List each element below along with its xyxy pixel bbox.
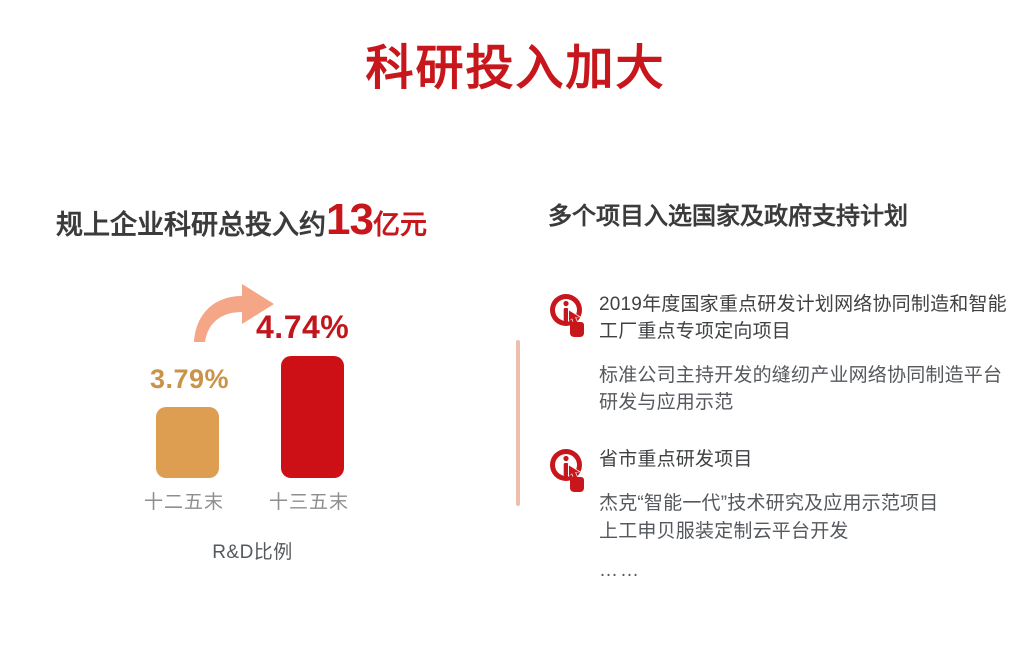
info-click-icon (546, 447, 590, 493)
left-heading: 规上企业科研总投入约13亿元 (56, 198, 427, 242)
right-column: 多个项目入选国家及政府支持计划 2019年度国家重点研发计划网络协同制造和智能工… (546, 0, 1016, 650)
bar-value-label-0: 3.79% (150, 366, 229, 393)
bar-category-label-1: 十三五末 (269, 493, 349, 512)
bullet-body: 2019年度国家重点研发计划网络协同制造和智能工厂重点专项定向项目 标准公司主持… (599, 292, 1016, 417)
chart-caption: R&D比例 (130, 543, 375, 562)
rd-ratio-bar-chart: 3.79% 4.74% 十二五末 十三五末 R&D比例 (130, 280, 410, 570)
left-heading-lead: 规上企业科研总投入约 (56, 210, 326, 240)
bullet-title: 省市重点研发项目 (599, 447, 1016, 474)
left-heading-number: 13 (326, 195, 373, 244)
bullet-title: 2019年度国家重点研发计划网络协同制造和智能工厂重点专项定向项目 (599, 292, 1016, 346)
bullet-subline: 上工申贝服装定制云平台开发 (599, 518, 1016, 546)
bullet-subline: 杰克“智能一代”技术研究及应用示范项目 (599, 490, 1016, 518)
bullet-subline: 标准公司主持开发的缝纫产业网络协同制造平台研发与应用示范 (599, 362, 1016, 417)
slide-canvas: 科研投入加大 规上企业科研总投入约13亿元 3.79% 4.74% 十二五末 十… (0, 0, 1031, 650)
info-click-icon (546, 292, 590, 338)
left-column: 规上企业科研总投入约13亿元 3.79% 4.74% 十二五末 十三五末 R&D… (0, 0, 500, 650)
bullet-subtext: 杰克“智能一代”技术研究及应用示范项目 上工申贝服装定制云平台开发 …… (599, 490, 1016, 585)
bullet-subline-ellipsis: …… (599, 557, 1016, 585)
left-heading-unit: 亿元 (373, 210, 427, 240)
bar-category-label-0: 十二五末 (144, 493, 224, 512)
bullet-body: 省市重点研发项目 杰克“智能一代”技术研究及应用示范项目 上工申贝服装定制云平台… (599, 447, 1016, 585)
bullet-subtext: 标准公司主持开发的缝纫产业网络协同制造平台研发与应用示范 (599, 362, 1016, 417)
bullet-item: 2019年度国家重点研发计划网络协同制造和智能工厂重点专项定向项目 标准公司主持… (546, 292, 1016, 417)
bar-0 (156, 407, 219, 478)
right-heading: 多个项目入选国家及政府支持计划 (548, 205, 908, 229)
bullet-item: 省市重点研发项目 杰克“智能一代”技术研究及应用示范项目 上工申贝服装定制云平台… (546, 447, 1016, 585)
bar-1 (281, 356, 344, 478)
column-divider (516, 340, 520, 506)
bar-value-label-1: 4.74% (256, 311, 349, 343)
